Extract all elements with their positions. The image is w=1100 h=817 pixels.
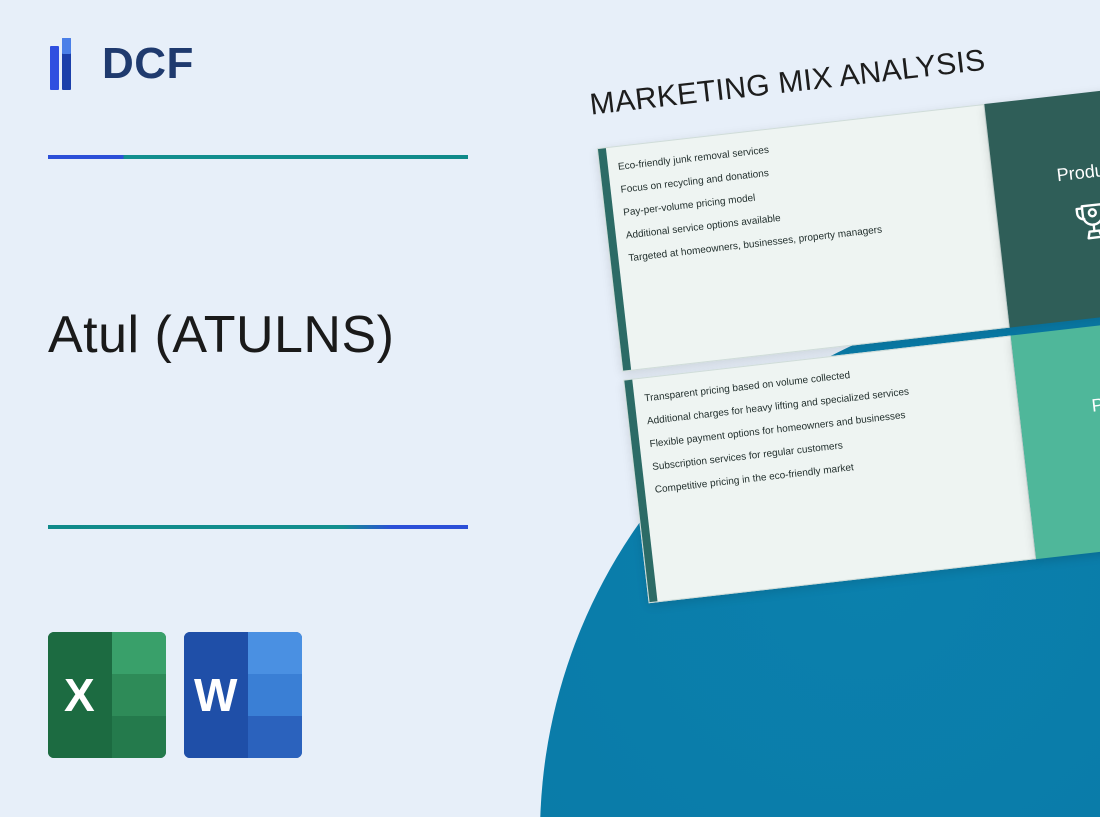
marketing-mix-board: MARKETING MIX ANALYSIS Eco-friendly junk…: [560, 11, 1100, 647]
word-file-icon-letter: W: [194, 668, 237, 722]
brand-name: DCF: [102, 39, 194, 89]
hero-graphic: MARKETING MIX ANALYSIS Eco-friendly junk…: [540, 0, 1100, 817]
brand-logo[interactable]: DCF: [48, 38, 194, 90]
excel-file-icon[interactable]: X: [48, 632, 166, 758]
place-label: Place: [1091, 391, 1100, 417]
place-bullets-card: Transparent pricing based on volume coll…: [623, 336, 1036, 604]
product-label: Product: [1056, 158, 1100, 186]
divider-bottom: [48, 525, 468, 529]
trophy-icon: [1065, 194, 1100, 252]
left-panel: DCF Atul (ATULNS) X W: [0, 0, 540, 817]
dcf-bars-logo-icon: [48, 38, 88, 90]
activity-wave-icon: [1091, 425, 1100, 483]
word-file-icon[interactable]: W: [184, 632, 302, 758]
list-item: Competitive pricing in the eco-friendly …: [654, 446, 1005, 496]
list-item: Targeted at homeowners, businesses, prop…: [628, 215, 979, 265]
divider-top: [48, 155, 468, 159]
file-download-icons: X W: [48, 632, 302, 758]
excel-file-icon-letter: X: [64, 668, 95, 722]
page-title: Atul (ATULNS): [48, 305, 394, 365]
product-bullets-card: Eco-friendly junk removal services Focus…: [597, 104, 1010, 372]
